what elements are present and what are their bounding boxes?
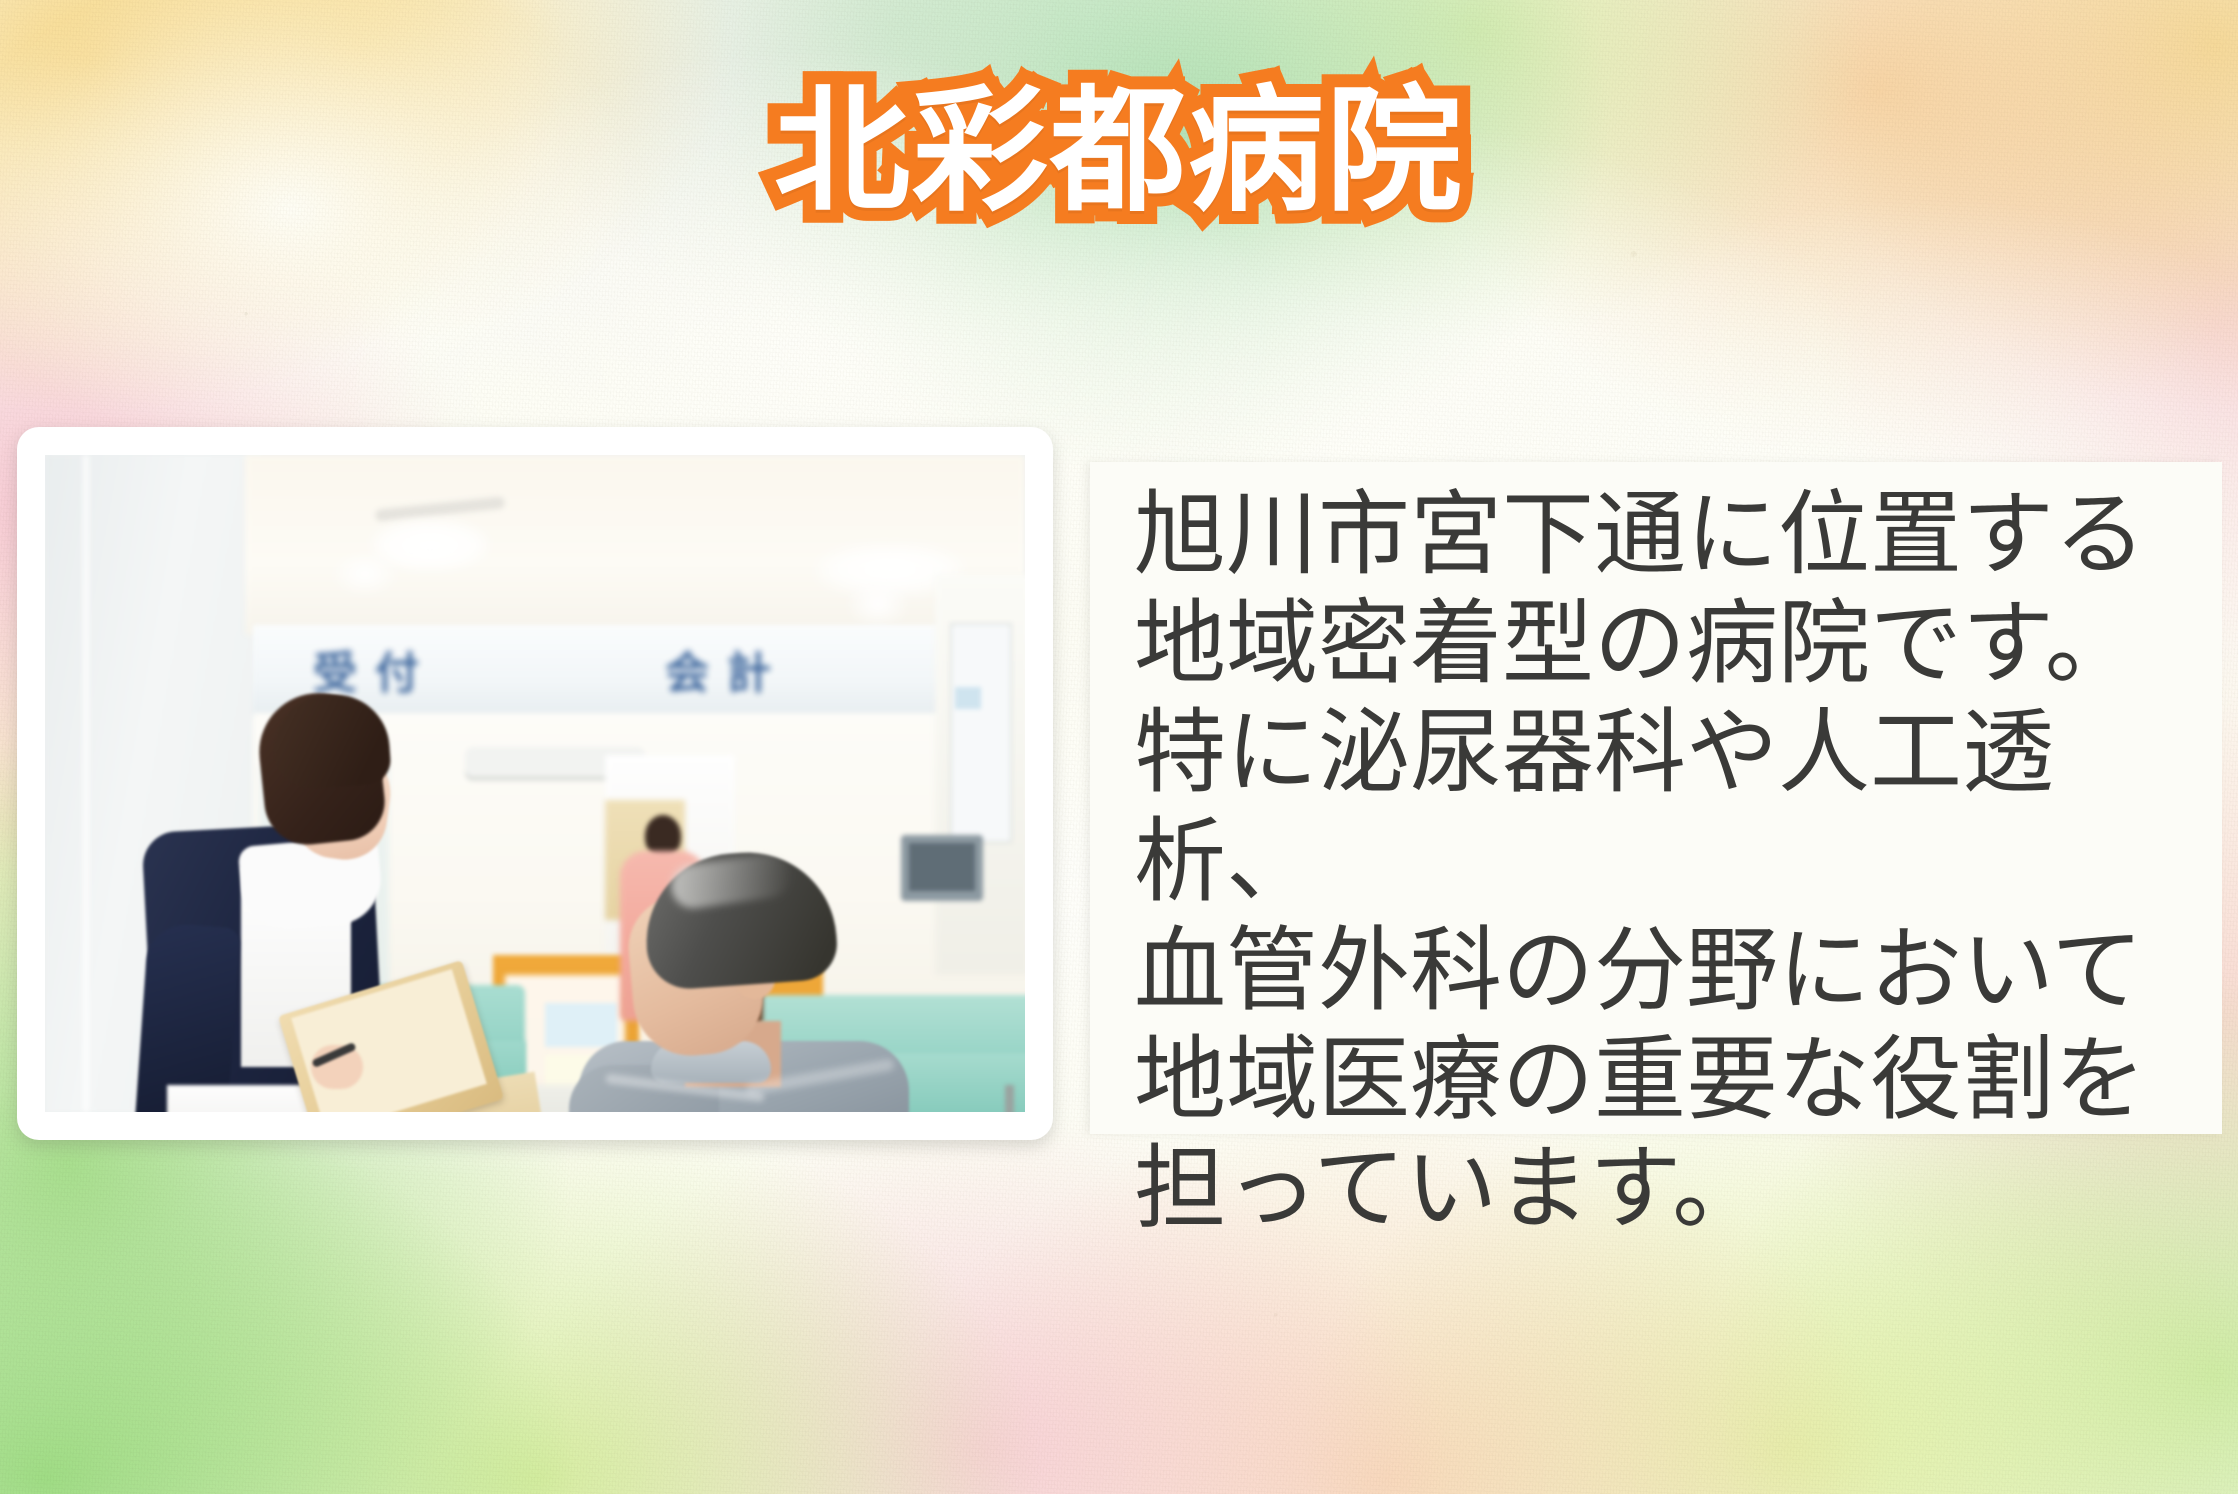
description-panel: 旭川市宮下通に位置する 地域密着型の病院です。 特に泌尿器科や人工透析、 血管外… [1090, 462, 2222, 1134]
photo-ceiling-light-2 [330, 551, 400, 597]
photo-small-sign [955, 687, 981, 709]
page-title: 北彩都病院 [774, 74, 1464, 232]
photo-nurse-sleeve [133, 922, 240, 1112]
hospital-reception-photo: 受付 会計 [45, 455, 1025, 1112]
photo-right-door [950, 623, 1012, 843]
description-text: 旭川市宮下通に位置する 地域密着型の病院です。 特に泌尿器科や人工透析、 血管外… [1134, 480, 2204, 1243]
photo-desk-notice-1 [545, 1003, 617, 1047]
photo-sign-accounting-text: 会計 [665, 637, 789, 691]
photo-wall-edge [83, 455, 89, 1112]
photo-monitor-right-screen [909, 843, 975, 891]
slide-root: 北彩都病院 受付 会計 [0, 0, 2238, 1494]
title-container: 北彩都病院 [0, 74, 2238, 232]
photo-bench-leg-2 [1005, 1085, 1014, 1112]
photo-sign-reception-text: 受付 [313, 637, 437, 691]
photo-ceiling-light-4 [845, 579, 911, 629]
photo-card: 受付 会計 [17, 427, 1053, 1140]
